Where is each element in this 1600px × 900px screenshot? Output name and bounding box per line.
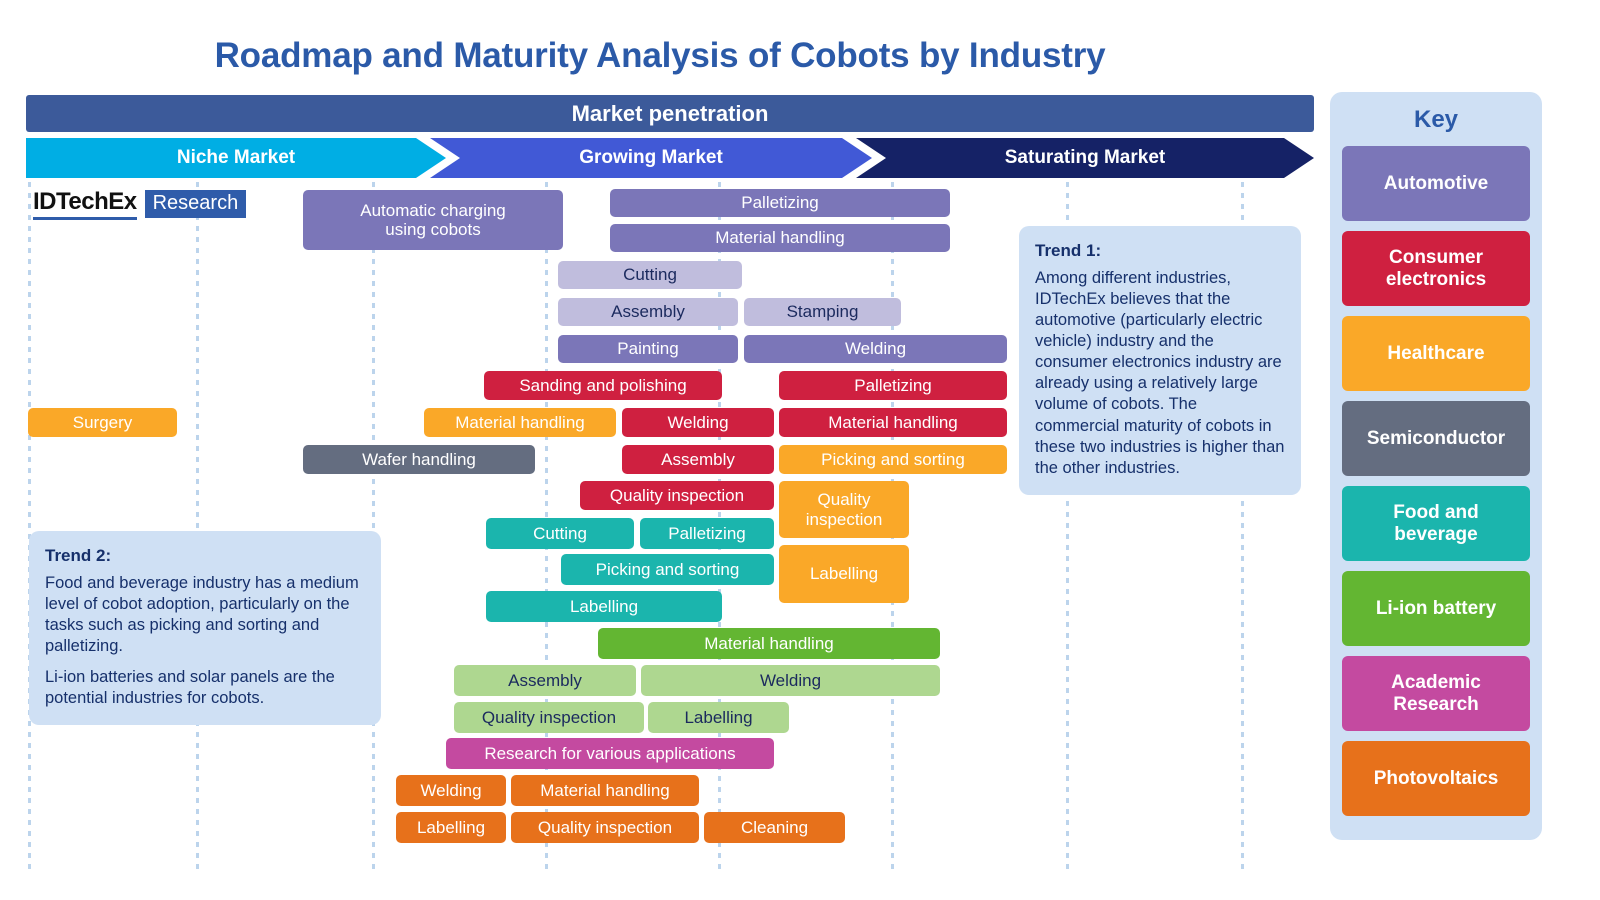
task-bar[interactable]: Labelling [396, 812, 506, 843]
task-bar[interactable]: Cleaning [704, 812, 845, 843]
task-bar[interactable]: Quality inspection [454, 702, 644, 733]
key-legend-items: AutomotiveConsumer electronicsHealthcare… [1342, 146, 1530, 816]
task-bar[interactable]: Welding [744, 335, 1007, 363]
task-bar[interactable]: Surgery [28, 408, 177, 437]
stage-chevron-niche-market[interactable]: Niche Market [26, 138, 446, 178]
stage-label: Saturating Market [1005, 147, 1165, 169]
task-bar[interactable]: Automatic charging using cobots [303, 190, 563, 250]
task-bar[interactable]: Sanding and polishing [484, 371, 722, 400]
stage-label: Niche Market [177, 147, 295, 169]
task-bar[interactable]: Quality inspection [511, 812, 699, 843]
task-bar[interactable]: Assembly [622, 445, 774, 474]
market-penetration-header: Market penetration [26, 95, 1314, 132]
trend-2-callout: Trend 2: Food and beverage industry has … [29, 531, 381, 725]
key-legend-item[interactable]: Automotive [1342, 146, 1530, 221]
task-bar[interactable]: Stamping [744, 298, 901, 326]
task-bar[interactable]: Assembly [558, 298, 738, 326]
idtechex-logo: IDTechEx Research [33, 188, 246, 220]
roadmap-chart-root: Roadmap and Maturity Analysis of Cobots … [0, 0, 1600, 900]
task-bar[interactable]: Cutting [486, 518, 634, 549]
task-bar[interactable]: Material handling [779, 408, 1007, 437]
trend-paragraph: Among different industries, IDTechEx bel… [1035, 268, 1285, 479]
trend-1-callout: Trend 1: Among different industries, IDT… [1019, 226, 1301, 495]
key-title: Key [1342, 106, 1530, 134]
task-bar[interactable]: Material handling [598, 628, 940, 659]
task-bar[interactable]: Picking and sorting [779, 445, 1007, 474]
gridline [372, 182, 375, 870]
logo-research-badge: Research [145, 190, 247, 218]
task-bar[interactable]: Palletizing [779, 371, 1007, 400]
task-bar[interactable]: Material handling [424, 408, 616, 437]
task-bar[interactable]: Material handling [610, 224, 950, 252]
key-legend-item[interactable]: Healthcare [1342, 316, 1530, 391]
page-title: Roadmap and Maturity Analysis of Cobots … [0, 36, 1320, 76]
task-bar[interactable]: Cutting [558, 261, 742, 289]
key-legend-item[interactable]: Consumer electronics [1342, 231, 1530, 306]
logo-wordmark: IDTechEx [33, 188, 137, 220]
key-legend-item[interactable]: Food and beverage [1342, 486, 1530, 561]
key-legend-item[interactable]: Photovoltaics [1342, 741, 1530, 816]
key-legend-item[interactable]: Semiconductor [1342, 401, 1530, 476]
task-bar[interactable]: Picking and sorting [561, 554, 774, 585]
trend-paragraph: Food and beverage industry has a medium … [45, 573, 365, 657]
task-bar[interactable]: Palletizing [640, 518, 774, 549]
trend-1-title: Trend 1: [1035, 240, 1285, 262]
task-bar[interactable]: Labelling [779, 545, 909, 603]
market-penetration-label: Market penetration [572, 101, 769, 127]
key-legend-panel: Key AutomotiveConsumer electronicsHealth… [1330, 92, 1542, 840]
task-bar[interactable]: Welding [622, 408, 774, 437]
task-bar[interactable]: Material handling [511, 775, 699, 806]
task-bar[interactable]: Research for various applications [446, 738, 774, 769]
task-bar[interactable]: Assembly [454, 665, 636, 696]
gridline [196, 182, 199, 870]
task-bar[interactable]: Labelling [648, 702, 789, 733]
market-stage-chevrons: Niche MarketGrowing MarketSaturating Mar… [26, 138, 1314, 178]
gridline [28, 182, 31, 870]
stage-label: Growing Market [579, 147, 723, 169]
trend-paragraph: Li-ion batteries and solar panels are th… [45, 667, 365, 709]
key-legend-item[interactable]: Academic Research [1342, 656, 1530, 731]
trend-1-body: Among different industries, IDTechEx bel… [1035, 268, 1285, 479]
task-bar[interactable]: Labelling [486, 591, 722, 622]
task-bar[interactable]: Welding [396, 775, 506, 806]
task-bar[interactable]: Wafer handling [303, 445, 535, 474]
trend-2-body: Food and beverage industry has a medium … [45, 573, 365, 710]
task-bar[interactable]: Quality inspection [580, 481, 774, 510]
stage-chevron-growing-market[interactable]: Growing Market [430, 138, 872, 178]
key-legend-item[interactable]: Li-ion battery [1342, 571, 1530, 646]
task-bar[interactable]: Welding [641, 665, 940, 696]
task-bar[interactable]: Quality inspection [779, 481, 909, 538]
task-bar[interactable]: Painting [558, 335, 738, 363]
task-bar[interactable]: Palletizing [610, 189, 950, 217]
trend-2-title: Trend 2: [45, 545, 365, 567]
stage-chevron-saturating-market[interactable]: Saturating Market [856, 138, 1314, 178]
